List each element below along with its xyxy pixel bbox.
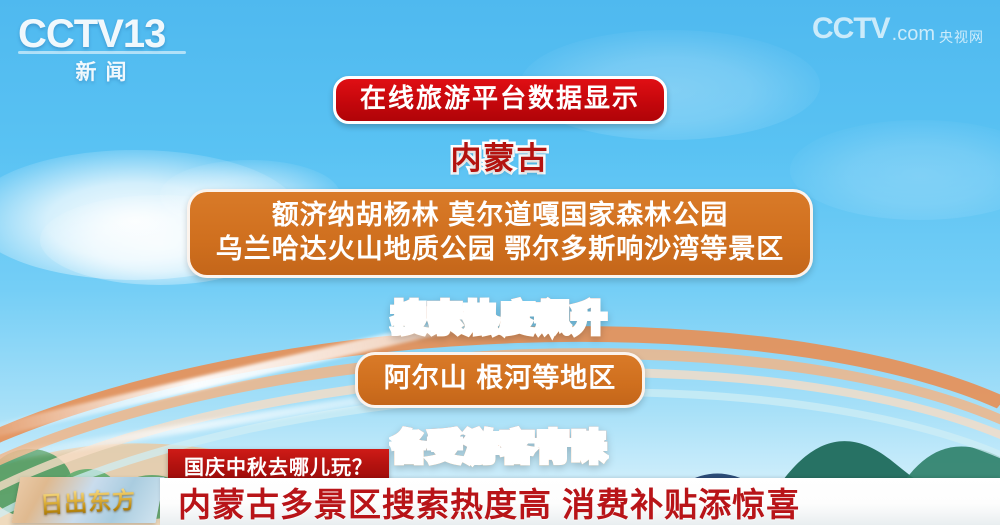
watermark-cn-text: 央视网 — [939, 30, 984, 44]
scenic-spots-line-2: 乌兰哈达火山地质公园 鄂尔多斯响沙湾等景区 — [216, 233, 785, 267]
program-logo: 日出东方 — [12, 477, 165, 523]
scenic-spots-pill: 额济纳胡杨林 莫尔道嘎国家森林公园 乌兰哈达火山地质公园 鄂尔多斯响沙湾等景区 — [187, 189, 814, 279]
kicker-text: 国庆中秋去哪儿玩？ — [184, 451, 373, 480]
kicker-label: 国庆中秋去哪儿玩？ — [168, 449, 389, 481]
cctv-com-watermark: CCTV .com 央视网 — [812, 14, 984, 44]
areas-line: 阿尔山 根河等地区 — [384, 362, 617, 396]
lower-third: 日出东方 国庆中秋去哪儿玩？ 内蒙古多景区搜索热度高 消费补贴添惊喜 — [0, 435, 1000, 525]
search-trend-text: 搜索热度飙升 — [392, 291, 608, 340]
channel-number: 13 — [123, 14, 166, 54]
broadcast-frame: CCTV13 新闻 CCTV .com 央视网 在线旅游平台数据显示 内蒙古 额… — [0, 0, 1000, 525]
infographic-stack: 在线旅游平台数据显示 内蒙古 额济纳胡杨林 莫尔道嘎国家森林公园 乌兰哈达火山地… — [0, 76, 1000, 469]
watermark-cctv-text: CCTV — [812, 14, 890, 44]
areas-pill: 阿尔山 根河等地区 — [355, 352, 646, 408]
watermark-com-text: .com — [892, 24, 935, 44]
headline-band: 内蒙古多景区搜索热度高 消费补贴添惊喜 — [160, 478, 1000, 525]
headline-text: 内蒙古多景区搜索热度高 消费补贴添惊喜 — [178, 478, 800, 525]
scenic-spots-line-1: 额济纳胡杨林 莫尔道嘎国家森林公园 — [216, 199, 785, 233]
source-pill: 在线旅游平台数据显示 — [333, 76, 667, 124]
channel-logo: CCTV13 新闻 — [18, 14, 223, 76]
program-logo-text: 日出东方 — [39, 481, 137, 520]
channel-logo-text: CCTV — [18, 12, 123, 56]
region-heading: 内蒙古 — [451, 133, 550, 178]
